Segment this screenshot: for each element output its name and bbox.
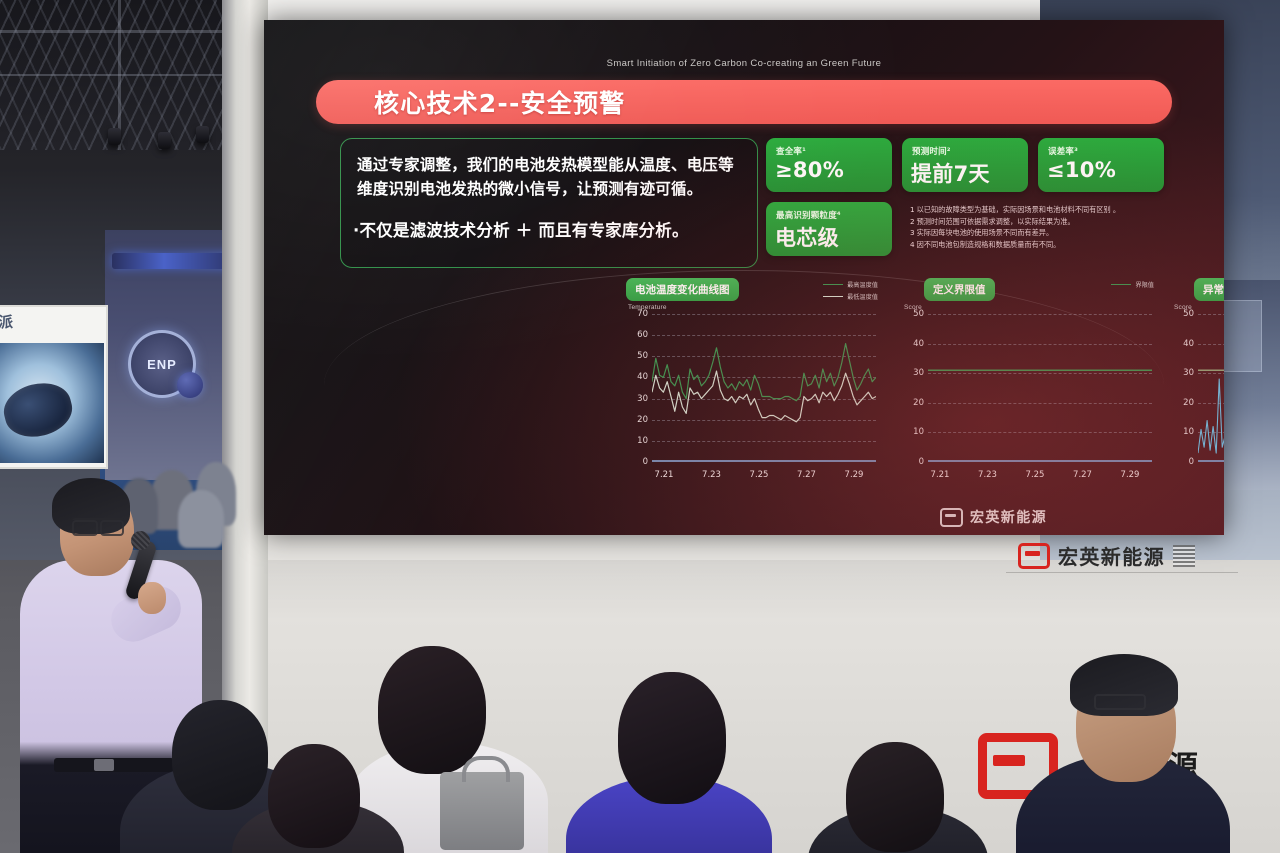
chart-y-tick: 40 [904,339,924,349]
stat-card-label: 查全率¹ [776,145,806,157]
legend-swatch [1111,284,1131,286]
chart-y-tick: 0 [904,457,924,467]
legend-swatch [823,296,843,298]
chart-baseline [652,460,876,462]
chart-x-axis [1198,470,1224,482]
chart-y-tick: 20 [904,398,924,408]
chart-baseline [928,460,1152,462]
chart-x-tick: 7.27 [1073,470,1092,480]
stat-card-error-rate: 误差率³ ≤10% [1038,138,1164,192]
ceiling-spotlight [108,128,121,145]
footnote-list: 1以已知的故障类型为基础，实际因场景和电池材料不同有区别 。 2预测时间范围可依… [910,204,1164,251]
wall-brand-row: 宏英新能源 [1018,541,1195,570]
legend-label: 最高温度值 [847,280,878,289]
slide-subtitle-english: Smart Initiation of Zero Carbon Co-creat… [264,58,1224,69]
handbag-handle [462,756,510,782]
background-person [178,490,224,548]
chart-y-tick: 50 [1174,309,1194,319]
slide-body-paragraph-2: ·不仅是滤波技术分析 ＋ 而且有专家库分析。 [353,217,747,241]
slide-body-paragraph-1: 通过专家调整，我们的电池发热模型能从温度、电压等维度识别电池发热的微小信号，让预… [357,153,745,201]
chart-x-tick: 7.23 [978,470,997,480]
legend-label: 最低温度值 [847,292,878,301]
chart-legend: 最高温度值 最低温度值 [823,280,878,304]
chart-x-tick: 7.21 [655,470,674,480]
chart-y-tick: 10 [1174,427,1194,437]
wall-brand-name: 宏英新能源 [1058,541,1165,570]
stat-card-prediction-time: 预测时间² 提前7天 [902,138,1028,192]
chart-x-tick: 7.27 [797,470,816,480]
ceiling-spotlight [158,132,171,149]
chart-defined-threshold: 定义界限值 界限值 Score 01020304050 7.217.237.25… [902,278,1154,483]
chart-legend: 界限值 [1111,280,1154,292]
chart-series-svg [652,314,876,462]
stat-card-label: 预测时间² [912,145,951,157]
chart-y-tick: 10 [904,427,924,437]
chart-x-tick: 7.29 [845,470,864,480]
screenshot-scene: ENP 派 Smart Initiation of Zero Carbon Co… [0,0,1280,853]
footnote-item: 2预测时间范围可依据需求调整，以实际结果为准。 [910,216,1164,228]
chart-y-tick: 50 [904,309,924,319]
stat-card-granularity: 最高识别颗粒度⁴ 电芯级 [766,202,892,256]
slide-footer-logo: 宏英新能源 [940,507,1047,527]
side-panel-product [0,376,77,443]
side-display-panel: 派 [0,305,108,469]
ceiling-spotlight [196,126,209,143]
audience-glasses [1094,694,1146,710]
chart-x-tick: 7.21 [931,470,950,480]
chart-plot-area: 010203040506070 [652,314,876,462]
slide-title-banner: 核心技术2--安全预警 [316,80,1172,124]
chart-y-tick: 40 [628,372,648,382]
presenter-belt [54,758,174,772]
chart-title: 异常识别预测图 [1194,278,1224,301]
handbag [440,772,524,850]
chart-battery-temperature: 电池温度变化曲线图 最高温度值 最低温度值 Temperature 010203… [626,278,878,483]
footnote-item: 4因不同电池包制造规格和数据质量而有不同。 [910,239,1164,251]
ceiling-truss [0,0,250,150]
brand-divider [1006,572,1238,573]
stat-card-value: ≤10% [1047,158,1116,182]
slide-body-box: 通过专家调整，我们的电池发热模型能从温度、电压等维度识别电池发热的微小信号，让预… [340,138,758,268]
projected-slide: Smart Initiation of Zero Carbon Co-creat… [264,20,1224,535]
chart-series-svg [1198,314,1224,462]
stat-card-recall: 查全率¹ ≥80% [766,138,892,192]
chart-x-tick: 7.29 [1121,470,1140,480]
footnote-item: 3实际因每块电池的使用场景不同而有差异。 [910,227,1164,239]
chart-x-tick: 7.25 [1026,470,1045,480]
chart-y-tick: 30 [904,368,924,378]
chart-y-tick: 0 [1174,457,1194,467]
chart-y-tick: 50 [628,351,648,361]
slide-title: 核心技术2--安全预警 [374,84,625,120]
chart-plot-area: 01020304050 [928,314,1152,462]
chart-y-tick: 20 [1174,398,1194,408]
presenter-hand [138,582,166,614]
microphone-head [131,531,150,550]
chart-anomaly-prediction: 异常识别预测图 界限值 Score 01020304050 [1172,278,1224,483]
stat-card-value: 提前7天 [911,158,990,188]
chart-y-tick: 60 [628,330,648,340]
side-panel-image [0,343,104,463]
stat-card-label: 最高识别颗粒度⁴ [776,209,841,221]
chart-baseline [1198,460,1224,462]
side-panel-text: 派 [0,311,14,332]
qr-code-icon [1173,545,1195,567]
presenter-glasses [72,518,124,533]
stat-card-value: 电芯级 [775,222,839,252]
chart-y-tick: 40 [1174,339,1194,349]
chart-y-tick: 30 [1174,368,1194,378]
chart-y-tick: 20 [628,415,648,425]
hongying-logo-icon [1018,543,1050,569]
booth-decor-circle [177,372,203,398]
enp-logo-text: ENP [147,357,177,372]
hongying-logo-icon [940,508,963,527]
legend-label: 界限值 [1135,280,1154,289]
chart-y-tick: 30 [628,394,648,404]
chart-y-tick: 10 [628,436,648,446]
stat-card-label: 误差率³ [1048,145,1078,157]
chart-x-tick: 7.25 [750,470,769,480]
chart-x-axis: 7.217.237.257.277.29 [928,470,1152,482]
slide-footer-logo-text: 宏英新能源 [970,507,1047,527]
chart-series-svg [928,314,1152,462]
legend-swatch [823,284,843,286]
footnote-item: 1以已知的故障类型为基础，实际因场景和电池材料不同有区别 。 [910,204,1164,216]
stat-card-group: 查全率¹ ≥80% 预测时间² 提前7天 误差率³ ≤10% 最高识别颗粒度⁴ … [766,138,1164,266]
chart-y-tick: 0 [628,457,648,467]
chart-x-axis: 7.217.237.257.277.29 [652,470,876,482]
chart-title: 定义界限值 [924,278,995,301]
chart-plot-area: 01020304050 [1198,314,1224,462]
chart-x-tick: 7.23 [702,470,721,480]
chart-y-tick: 70 [628,309,648,319]
stat-card-value: ≥80% [775,158,844,182]
chart-title: 电池温度变化曲线图 [626,278,739,301]
